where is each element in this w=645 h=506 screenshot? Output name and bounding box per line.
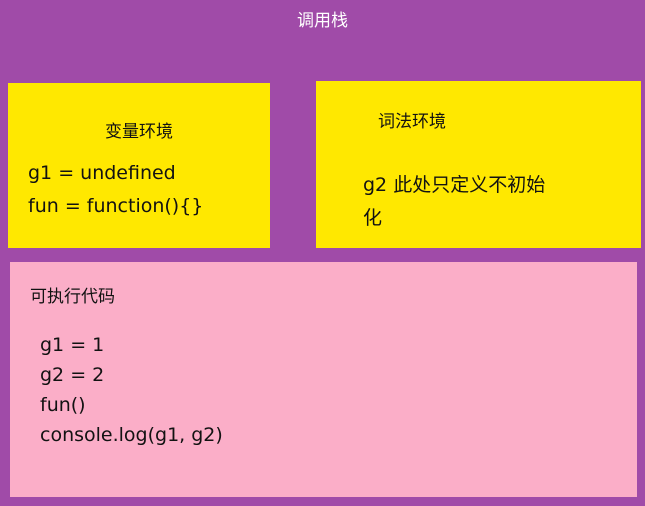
code-line: fun() (40, 390, 223, 420)
lexical-environment-box: 词法环境 g2 此处只定义不初始化 (316, 81, 641, 248)
code-line: g2 = 2 (40, 360, 223, 390)
variable-environment-box: 变量环境 g1 = undefined fun = function(){} (8, 83, 270, 248)
lexical-environment-note: g2 此处只定义不初始化 (363, 169, 563, 235)
page-title: 调用栈 (0, 10, 645, 32)
executable-code-box: 可执行代码 g1 = 1 g2 = 2 fun() console.log(g1… (10, 262, 637, 497)
variable-environment-entry: fun = function(){} (28, 194, 203, 219)
call-stack-diagram: 调用栈 变量环境 g1 = undefined fun = function()… (0, 0, 645, 506)
code-line: console.log(g1, g2) (40, 420, 223, 450)
executable-code-list: g1 = 1 g2 = 2 fun() console.log(g1, g2) (40, 330, 223, 450)
executable-code-heading: 可执行代码 (30, 286, 115, 308)
variable-environment-heading: 变量环境 (8, 121, 270, 143)
code-line: g1 = 1 (40, 330, 223, 360)
variable-environment-entry: g1 = undefined (28, 161, 176, 186)
lexical-environment-heading: 词法环境 (378, 111, 446, 133)
